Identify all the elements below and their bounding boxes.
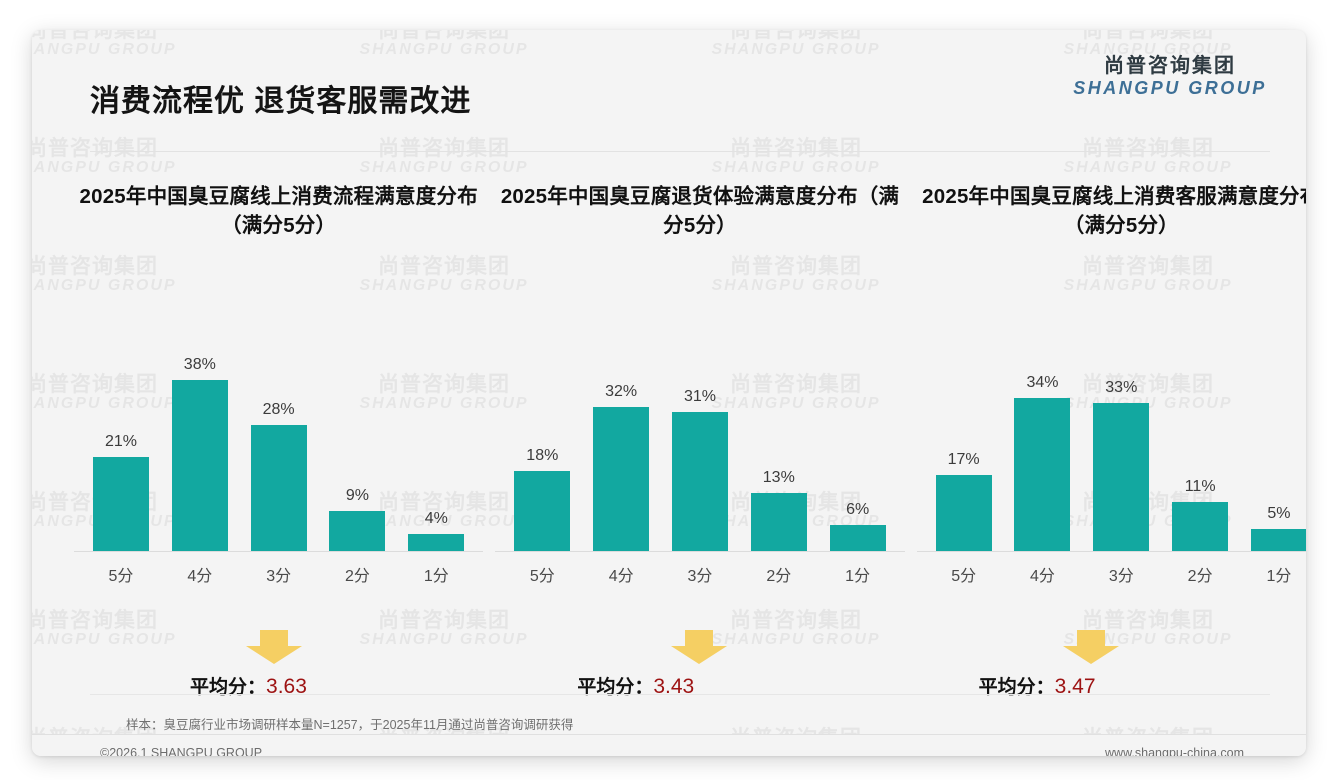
bar — [1172, 502, 1228, 552]
bar-slot: 6% — [821, 332, 895, 552]
bar — [408, 534, 464, 552]
watermark-tile: 尚普咨询集团SHANGPU GROUP — [1048, 138, 1248, 177]
x-axis-tick-label: 4分 — [584, 562, 658, 586]
bar-group: 21%38%28%9%4% — [84, 332, 473, 552]
bar-slot: 33% — [1084, 332, 1158, 552]
bar — [93, 457, 149, 552]
header-divider — [90, 151, 1270, 152]
bar-value-label: 6% — [846, 501, 869, 519]
bar-group: 18%32%31%13%6% — [505, 332, 894, 552]
bar-slot: 4% — [399, 332, 473, 552]
bar-value-label: 38% — [184, 356, 216, 374]
bar-group: 17%34%33%11%5% — [927, 332, 1306, 552]
bar-chart: 18%32%31%13%6% — [495, 302, 904, 552]
chart-title: 2025年中国臭豆腐退货体验满意度分布（满分5分） — [495, 182, 904, 244]
bar-slot: 28% — [242, 332, 316, 552]
bar-value-label: 13% — [763, 469, 795, 487]
bar — [830, 525, 886, 552]
bar-value-label: 17% — [948, 451, 980, 469]
bar-value-label: 31% — [684, 388, 716, 406]
x-axis-labels: 5分4分3分2分1分 — [505, 562, 894, 586]
down-arrow-icon — [246, 630, 302, 664]
bar — [1014, 398, 1070, 552]
x-axis-tick-label: 1分 — [1242, 562, 1306, 586]
x-axis-labels: 5分4分3分2分1分 — [84, 562, 473, 586]
logo-chinese-name: 尚普咨询集团 — [1070, 54, 1270, 78]
footer-copyright: ©2026.1 SHANGPU GROUP — [100, 746, 262, 756]
bar — [251, 425, 307, 552]
average-row: 平均分：3.63 — [74, 630, 483, 708]
bar-slot: 13% — [742, 332, 816, 552]
watermark-tile: 尚普咨询集团SHANGPU GROUP — [696, 138, 896, 177]
bar-slot: 32% — [584, 332, 658, 552]
bar-chart: 17%34%33%11%5% — [917, 302, 1306, 552]
bar-value-label: 21% — [105, 433, 137, 451]
x-axis-tick-label: 2分 — [320, 562, 394, 586]
charts-container: 2025年中国臭豆腐线上消费流程满意度分布（满分5分） 21%38%28%9%4… — [68, 182, 1306, 682]
source-divider — [90, 694, 1270, 695]
down-arrow-icon — [1063, 630, 1119, 664]
slide-page: 尚普咨询集团SHANGPU GROUP尚普咨询集团SHANGPU GROUP尚普… — [0, 0, 1340, 780]
bar — [1093, 403, 1149, 552]
x-axis-tick-label: 1分 — [821, 562, 895, 586]
average-row: 平均分：3.43 — [495, 630, 904, 708]
footer-website[interactable]: www.shangpu-china.com — [1105, 746, 1244, 756]
chart-title: 2025年中国臭豆腐线上消费流程满意度分布（满分5分） — [74, 182, 483, 244]
chart-panel-service: 2025年中国臭豆腐线上消费客服满意度分布（满分5分） 17%34%33%11%… — [911, 182, 1306, 682]
chart-panel-return: 2025年中国臭豆腐退货体验满意度分布（满分5分） 18%32%31%13%6%… — [489, 182, 910, 682]
average-row: 平均分：3.47 — [917, 630, 1306, 708]
slide-footer: ©2026.1 SHANGPU GROUP www.shangpu-china.… — [32, 735, 1306, 756]
bar-slot: 18% — [505, 332, 579, 552]
bar-value-label: 9% — [346, 487, 369, 505]
x-axis-tick-label: 4分 — [1005, 562, 1079, 586]
bar-value-label: 11% — [1185, 478, 1216, 496]
bar — [329, 511, 385, 552]
bar-value-label: 32% — [605, 383, 637, 401]
x-axis-tick-label: 2分 — [1163, 562, 1237, 586]
x-axis-tick-label: 4分 — [163, 562, 237, 586]
bar-value-label: 34% — [1026, 374, 1058, 392]
bar-value-label: 4% — [425, 510, 448, 528]
bar-chart: 21%38%28%9%4% — [74, 302, 483, 552]
bar-slot: 31% — [663, 332, 737, 552]
x-axis-tick-label: 5分 — [927, 562, 1001, 586]
bar-slot: 38% — [163, 332, 237, 552]
bar — [172, 380, 228, 552]
x-axis-line — [495, 551, 904, 552]
x-axis-labels: 5分4分3分2分1分 — [927, 562, 1306, 586]
bar-value-label: 28% — [263, 401, 295, 419]
bar — [936, 475, 992, 552]
x-axis-line — [917, 551, 1306, 552]
bar — [751, 493, 807, 552]
bar-slot: 21% — [84, 332, 158, 552]
brand-logo: 尚普咨询集团 SHANGPU GROUP — [1070, 54, 1270, 100]
watermark-tile: 尚普咨询集团SHANGPU GROUP — [344, 138, 544, 177]
bar — [593, 407, 649, 552]
bar — [672, 412, 728, 552]
bar-slot: 34% — [1005, 332, 1079, 552]
x-axis-tick-label: 1分 — [399, 562, 473, 586]
slide-card: 尚普咨询集团SHANGPU GROUP尚普咨询集团SHANGPU GROUP尚普… — [32, 30, 1306, 756]
bar-slot: 5% — [1242, 332, 1306, 552]
page-title: 消费流程优 退货客服需改进 — [90, 76, 471, 120]
down-arrow-icon — [671, 630, 727, 664]
bar-value-label: 33% — [1105, 379, 1137, 397]
logo-english-name: SHANGPU GROUP — [1070, 78, 1270, 100]
x-axis-tick-label: 3分 — [663, 562, 737, 586]
bar-slot: 11% — [1163, 332, 1237, 552]
x-axis-tick-label: 2分 — [742, 562, 816, 586]
bar — [514, 471, 570, 552]
x-axis-tick-label: 5分 — [84, 562, 158, 586]
chart-title: 2025年中国臭豆腐线上消费客服满意度分布（满分5分） — [917, 182, 1306, 244]
watermark-tile: 尚普咨询集团SHANGPU GROUP — [32, 138, 192, 177]
bar-slot: 17% — [927, 332, 1001, 552]
x-axis-tick-label: 3分 — [242, 562, 316, 586]
x-axis-line — [74, 551, 483, 552]
x-axis-tick-label: 5分 — [505, 562, 579, 586]
slide-header: 消费流程优 退货客服需改进 尚普咨询集团 SHANGPU GROUP — [32, 30, 1306, 123]
x-axis-tick-label: 3分 — [1084, 562, 1158, 586]
source-note: 样本：臭豆腐行业市场调研样本量N=1257，于2025年11月通过尚普咨询调研获… — [126, 714, 573, 733]
bar-slot: 9% — [320, 332, 394, 552]
chart-panel-process: 2025年中国臭豆腐线上消费流程满意度分布（满分5分） 21%38%28%9%4… — [68, 182, 489, 682]
bar-value-label: 5% — [1267, 505, 1290, 523]
bar — [1251, 529, 1306, 552]
bar-value-label: 18% — [526, 447, 558, 465]
